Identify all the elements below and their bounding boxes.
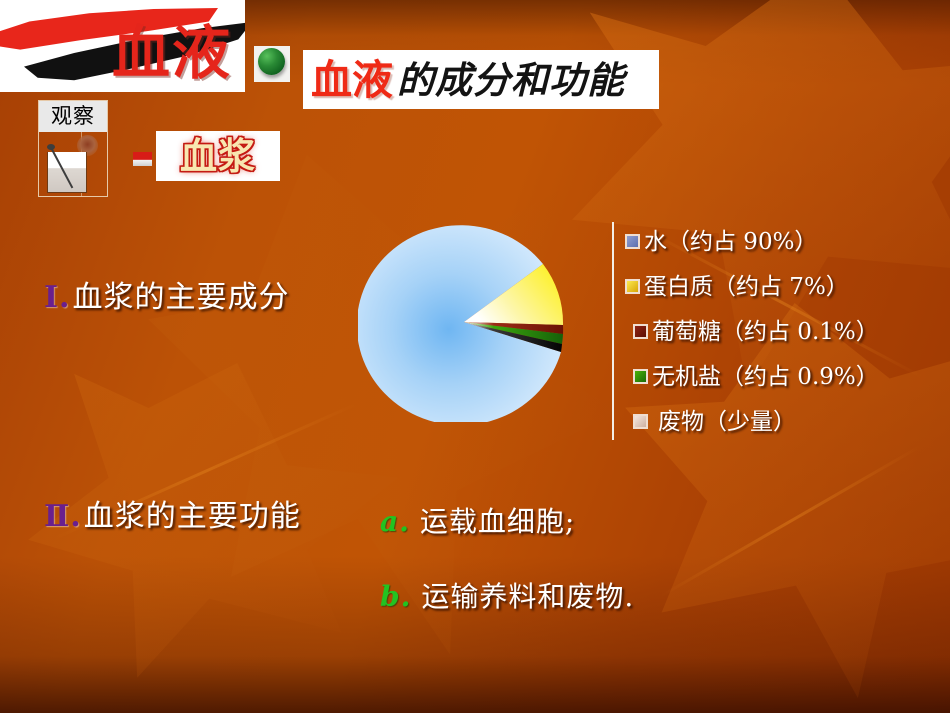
legend-label-waste: 废物（少量） bbox=[658, 409, 796, 435]
plasma-label-text: 血浆 bbox=[180, 136, 256, 176]
legend-label-mineral-salt: 无机盐（约占 0.9%） bbox=[652, 364, 879, 390]
legend-swatch-waste bbox=[633, 414, 648, 429]
heading-plasma-function: Ⅱ.血浆的主要功能 bbox=[44, 500, 301, 534]
plasma-label-box: 血浆 bbox=[156, 131, 280, 181]
function-marker: a. bbox=[380, 505, 410, 538]
heading-numeral: Ⅱ. bbox=[44, 499, 82, 534]
function-item-a: a.运载血细胞; bbox=[380, 506, 575, 538]
legend-label-protein: 蛋白质（约占 7%） bbox=[644, 274, 849, 300]
stir-rod-tip-icon bbox=[47, 144, 55, 150]
plasma-composition-pie-chart bbox=[358, 222, 570, 422]
legend-item-mineral-salt: 无机盐（约占 0.9%） bbox=[625, 354, 879, 399]
beaker-icon bbox=[47, 152, 87, 193]
green-sphere-bullet-icon bbox=[254, 46, 290, 82]
title-red-text: 血液 bbox=[311, 58, 393, 102]
function-item-b: b.运输养料和废物. bbox=[380, 581, 634, 613]
legend-item-protein: 蛋白质（约占 7%） bbox=[625, 264, 879, 309]
heading-plasma-composition: Ⅰ.血浆的主要成分 bbox=[44, 281, 289, 315]
function-marker: b. bbox=[380, 580, 411, 613]
legend-swatch-glucose bbox=[633, 324, 648, 339]
blood-logo-image: 血液 bbox=[0, 0, 245, 92]
legend-divider-line bbox=[612, 222, 614, 440]
observe-label: 观察 bbox=[39, 101, 107, 132]
observe-illustration bbox=[39, 132, 107, 196]
slide-title-banner: 血液 的成分和功能 bbox=[303, 50, 659, 109]
heading-text: 血浆的主要成分 bbox=[72, 280, 289, 315]
legend-label-glucose: 葡萄糖（约占 0.1%） bbox=[652, 319, 879, 345]
function-text: 运载血细胞; bbox=[420, 505, 575, 538]
title-black-text: 的成分和功能 bbox=[397, 60, 625, 100]
heading-text: 血浆的主要功能 bbox=[84, 499, 301, 534]
legend-item-waste: 废物（少量） bbox=[625, 399, 879, 444]
function-text: 运输养料和废物. bbox=[421, 580, 634, 613]
legend-items: 水（约占 90%） 蛋白质（约占 7%） 葡萄糖（约占 0.1%） 无机盐（约占… bbox=[625, 219, 879, 444]
legend-swatch-water bbox=[625, 234, 640, 249]
legend-swatch-mineral-salt bbox=[633, 369, 648, 384]
background-vein-line bbox=[659, 445, 920, 598]
presentation-slide: 血液 血液 的成分和功能 观察 血浆 Ⅰ.血浆的主要成分 Ⅱ.血浆的主要功能 a… bbox=[0, 0, 950, 713]
heading-numeral: Ⅰ. bbox=[44, 280, 70, 315]
legend-item-water: 水（约占 90%） bbox=[625, 219, 879, 264]
observe-callout-box: 观察 bbox=[38, 100, 108, 197]
pie-chart-svg bbox=[358, 222, 570, 422]
logo-text: 血液 bbox=[112, 24, 232, 82]
sphere-shape bbox=[258, 48, 285, 75]
legend-swatch-protein bbox=[625, 279, 640, 294]
plasma-bullet-icon bbox=[133, 152, 152, 166]
legend-item-glucose: 葡萄糖（约占 0.1%） bbox=[625, 309, 879, 354]
legend-label-water: 水（约占 90%） bbox=[644, 229, 817, 255]
